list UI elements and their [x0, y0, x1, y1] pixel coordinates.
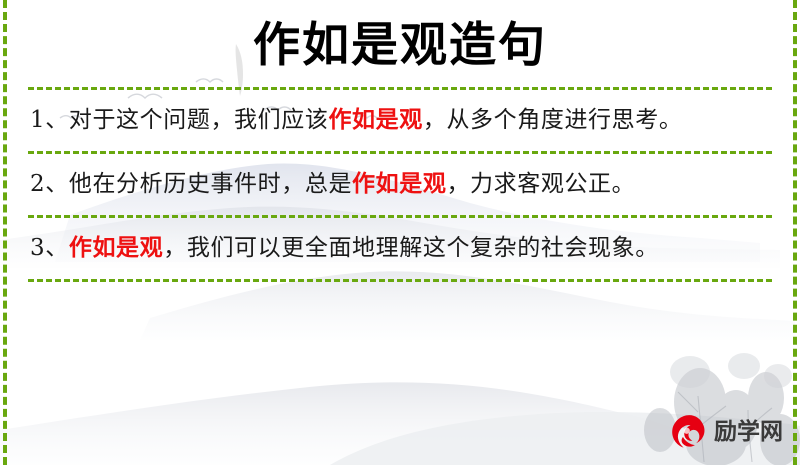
keyword-highlight: 作如是观 — [69, 234, 163, 261]
content-area: 作如是观造句 1、对于这个问题，我们应该作如是观，从多个角度进行思考。 2、他在… — [0, 0, 800, 465]
sentence-text-before: 他在分析历史事件时，总是 — [69, 171, 352, 197]
sentence-text-after: ，力求客观公正。 — [446, 171, 635, 197]
right-dashed-border — [793, 0, 797, 465]
sentence-index: 3、 — [30, 235, 69, 261]
sentence-index: 2、 — [30, 171, 69, 197]
keyword-highlight: 作如是观 — [328, 106, 422, 133]
left-dashed-border — [3, 0, 7, 465]
page-title: 作如是观造句 — [28, 0, 772, 73]
keyword-highlight: 作如是观 — [352, 170, 446, 197]
watermark-logo: 励学网 — [668, 412, 783, 452]
list-item: 1、对于这个问题，我们应该作如是观，从多个角度进行思考。 — [28, 90, 772, 151]
list-item: 2、他在分析历史事件时，总是作如是观，力求客观公正。 — [28, 154, 772, 215]
sentence-text-after: ，我们可以更全面地理解这个复杂的社会现象。 — [163, 235, 659, 261]
list-item: 3、作如是观，我们可以更全面地理解这个复杂的社会现象。 — [28, 218, 772, 279]
sentence-text-after: ，从多个角度进行思考。 — [423, 107, 683, 133]
sentence-card-page: 作如是观造句 1、对于这个问题，我们应该作如是观，从多个角度进行思考。 2、他在… — [0, 0, 800, 465]
sentence-text-before: 对于这个问题，我们应该 — [69, 107, 329, 133]
red-swirl-flame-icon — [668, 412, 708, 452]
watermark-brand-text: 励学网 — [714, 421, 783, 444]
sentence-index: 1、 — [30, 107, 69, 133]
divider-3 — [28, 279, 772, 282]
